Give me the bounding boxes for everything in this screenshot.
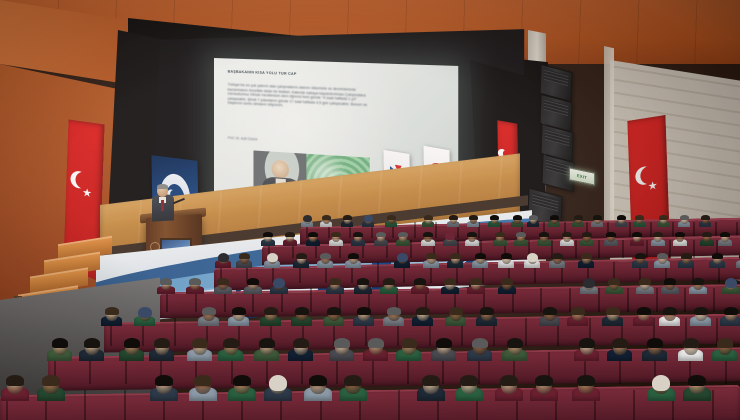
seat-divider	[693, 240, 695, 258]
audience-hair	[717, 338, 733, 348]
seat-divider	[684, 288, 686, 312]
audience-hair	[467, 232, 477, 237]
audience-hair	[320, 253, 331, 259]
audience-hair	[353, 232, 363, 237]
audience-hair	[688, 375, 706, 386]
audience-hair	[387, 215, 396, 220]
audience-hair	[550, 215, 559, 220]
audience-headscarf	[267, 253, 278, 262]
audience-hair	[539, 232, 549, 237]
audience-hair	[154, 338, 170, 348]
audience-hair	[516, 232, 526, 237]
speaker-grille	[545, 129, 569, 147]
audience-hair	[357, 278, 369, 285]
audience-hair	[192, 338, 208, 348]
audience-hair	[263, 232, 273, 237]
audience-hair	[285, 232, 295, 237]
audience-hair	[653, 232, 663, 237]
seat-divider	[669, 240, 671, 258]
audience-hair	[450, 253, 461, 259]
audience-hair	[217, 278, 229, 285]
audience-hair	[401, 338, 417, 348]
audience-hair	[724, 307, 738, 315]
audience-hair	[470, 278, 482, 285]
seat-row	[0, 385, 740, 420]
audience-hair	[720, 232, 730, 237]
audience-hair	[574, 215, 583, 220]
seat-divider	[124, 390, 126, 420]
audience-hair	[500, 375, 518, 386]
audience-headscarf	[269, 375, 287, 391]
audience-hair	[344, 375, 362, 386]
audience-hair	[501, 253, 512, 259]
audience-hair	[189, 278, 201, 285]
audience-hair	[264, 307, 278, 315]
audience-hair	[637, 307, 651, 315]
audience-hair	[480, 307, 494, 315]
seat-divider	[598, 288, 600, 312]
audience-hair	[387, 307, 401, 315]
audience-hair	[675, 232, 685, 237]
audience-hair	[449, 215, 458, 220]
audience-hair	[322, 215, 331, 220]
audience-hair	[680, 215, 689, 220]
speaker-grille	[544, 99, 568, 117]
audience-hair	[308, 232, 318, 237]
seat-divider	[414, 222, 416, 238]
audience-headscarf	[527, 253, 538, 262]
audience-hair	[331, 232, 341, 237]
seat-divider	[435, 222, 437, 238]
seat-divider	[656, 288, 658, 312]
star-icon: ★	[82, 188, 92, 200]
audience-hair	[105, 307, 119, 315]
speaker-grille	[532, 193, 558, 212]
audience-hair	[52, 338, 68, 348]
audience-hair	[490, 215, 499, 220]
audience-hair	[513, 215, 522, 220]
auditorium-photo: BAŞBAKANIN KISA YOLU TUR CAP Türkiye'nin…	[0, 0, 740, 420]
audience-hair	[343, 215, 352, 220]
audience-hair	[383, 278, 395, 285]
seat-divider	[575, 240, 577, 258]
audience-hair	[529, 215, 538, 220]
seat-divider	[598, 240, 600, 258]
speaker-grille	[544, 69, 568, 87]
audience-hair	[398, 232, 408, 237]
audience-headscarf	[138, 307, 152, 318]
audience-hair	[495, 232, 505, 237]
audience-hair	[535, 375, 553, 386]
audience-hair	[239, 253, 250, 259]
audience-hair	[577, 375, 595, 386]
audience-hair	[329, 278, 341, 285]
audience-seating	[0, 214, 740, 420]
seat-divider	[633, 390, 635, 420]
audience-hair	[639, 278, 651, 285]
audience-hair	[694, 307, 708, 315]
seat-divider	[174, 318, 176, 346]
audience-hair	[436, 338, 452, 348]
audience-hair	[202, 307, 216, 315]
audience-headscarf	[445, 232, 455, 240]
audience-hair	[309, 375, 327, 386]
audience-hair	[295, 307, 309, 315]
audience-hair	[42, 375, 60, 386]
speaker-grille	[546, 159, 570, 177]
seat-divider	[622, 240, 624, 258]
audience-hair	[444, 278, 456, 285]
audience-hair	[348, 253, 359, 259]
star-icon: ★	[648, 181, 658, 194]
audience-hair	[608, 278, 620, 285]
audience-hair	[612, 338, 628, 348]
audience-hair	[712, 253, 723, 259]
audience-hair	[449, 307, 463, 315]
audience-hair	[124, 338, 140, 348]
seat-divider	[650, 222, 652, 238]
audience-hair	[414, 278, 426, 285]
audience-hair	[232, 307, 246, 315]
audience-hair	[617, 215, 626, 220]
seat-divider	[713, 288, 715, 312]
speaker-hair	[157, 184, 168, 189]
audience-hair	[426, 253, 437, 259]
audience-hair	[460, 375, 478, 386]
audience-hair	[701, 215, 710, 220]
audience-hair	[562, 232, 572, 237]
audience-hair	[593, 215, 602, 220]
seat-divider	[629, 222, 631, 238]
audience-hair	[423, 232, 433, 237]
seat-divider	[398, 390, 400, 420]
audience-hair	[582, 232, 592, 237]
seat-divider	[540, 288, 542, 312]
audience-hair	[416, 307, 430, 315]
audience-headscarf	[397, 253, 408, 262]
audience-hair	[657, 253, 668, 259]
speaker-tie	[161, 200, 164, 211]
audience-hair	[647, 338, 663, 348]
seat-divider	[84, 390, 86, 420]
audience-hair	[422, 375, 440, 386]
audience-hair	[681, 253, 692, 259]
audience-hair	[501, 278, 513, 285]
audience-hair	[543, 307, 557, 315]
audience-hair	[581, 253, 592, 259]
audience-hair	[692, 278, 704, 285]
audience-hair	[475, 253, 486, 259]
audience-hair	[223, 338, 239, 348]
audience-hair	[635, 215, 644, 220]
audience-hair	[84, 338, 100, 348]
audience-hair	[160, 278, 172, 285]
audience-hair	[571, 307, 585, 315]
audience-hair	[507, 338, 523, 348]
audience-hair	[376, 232, 386, 237]
audience-hair	[293, 338, 309, 348]
audience-hair	[606, 307, 620, 315]
seat-divider	[525, 318, 527, 346]
audience-hair	[424, 215, 433, 220]
audience-hair	[702, 232, 712, 237]
audience-hair	[659, 215, 668, 220]
audience-hair	[194, 375, 212, 386]
seat-divider	[712, 390, 714, 420]
audience-headscarf	[273, 278, 285, 288]
seat-divider	[627, 288, 629, 312]
audience-hair	[233, 375, 251, 386]
audience-headscarf	[303, 215, 312, 222]
audience-hair	[635, 253, 646, 259]
audience-hair	[327, 307, 341, 315]
audience-hair	[472, 338, 488, 348]
exit-sign-label: EXIT	[577, 173, 587, 180]
audience-hair	[334, 338, 350, 348]
seat-divider	[672, 222, 674, 238]
audience-hair	[357, 307, 371, 315]
audience-hair	[259, 338, 275, 348]
audience-hair	[469, 215, 478, 220]
audience-headscarf	[725, 278, 737, 288]
audience-headscarf	[652, 375, 670, 391]
audience-hair	[663, 307, 677, 315]
audience-hair	[552, 253, 563, 259]
audience-hair	[155, 375, 173, 386]
audience-hair	[296, 253, 307, 259]
audience-headscarf	[364, 215, 373, 222]
audience-hair	[664, 278, 676, 285]
seat-divider	[377, 262, 379, 283]
audience-headscarf	[583, 278, 595, 288]
audience-hair	[632, 232, 642, 237]
audience-hair	[606, 232, 616, 237]
audience-hair	[579, 338, 595, 348]
audience-hair	[368, 338, 384, 348]
seat-divider	[310, 288, 312, 312]
audience-hair	[6, 375, 24, 386]
audience-hair	[683, 338, 699, 348]
audience-headscarf	[218, 253, 229, 262]
audience-hair	[247, 278, 259, 285]
portrait-head	[272, 159, 289, 179]
